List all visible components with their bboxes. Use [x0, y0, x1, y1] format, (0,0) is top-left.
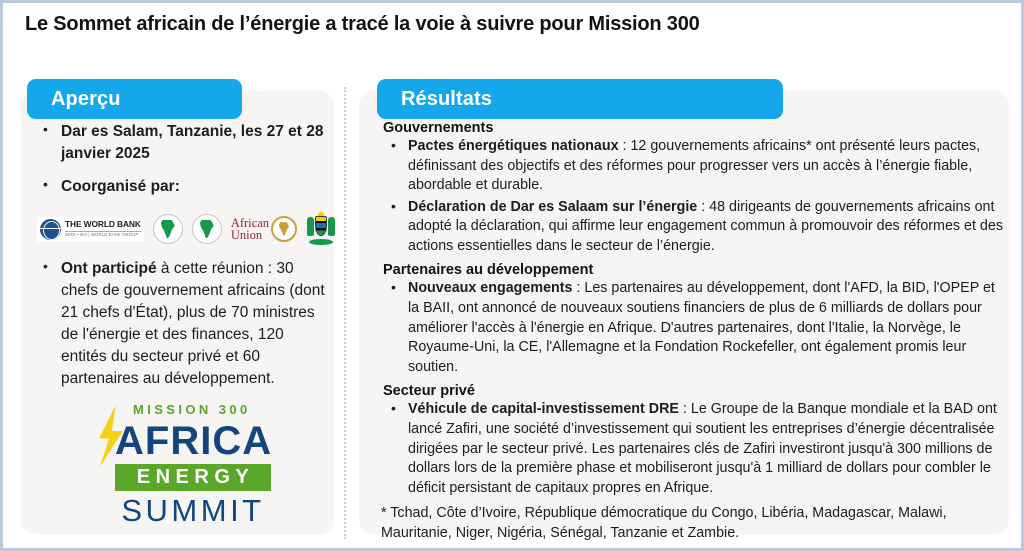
- world-bank-name: THE WORLD BANK: [65, 220, 141, 228]
- africa-continent-icon: [279, 222, 290, 236]
- summit-wordmark: SUMMIT: [115, 495, 271, 526]
- mission300-africa-row: AFRICA: [91, 421, 271, 463]
- new-commitments-label: Nouveaux engagements: [408, 280, 572, 296]
- world-bank-wordmark: THE WORLD BANK IBRD • IDA | WORLD BANK G…: [65, 220, 141, 237]
- africa-continent-icon: [160, 220, 175, 239]
- overview-pill-label: Aperçu: [51, 88, 121, 111]
- development-partners-bullet-list: Nouveaux engagements : Les partenaires a…: [377, 279, 1009, 377]
- afdb-circle-logo-1: [153, 214, 183, 244]
- page-title: Le Sommet africain de l’énergie a tracé …: [25, 12, 985, 37]
- private-sector-bullet-list: Véhicule de capital-investissement DRE :…: [377, 400, 1009, 498]
- world-bank-subtitle: IBRD • IDA | WORLD BANK GROUP: [65, 231, 141, 238]
- national-energy-compacts-label: Pactes énergétiques nationaux: [408, 138, 619, 154]
- coorganizer-logo-strip: THE WORLD BANK IBRD • IDA | WORLD BANK G…: [35, 209, 326, 249]
- mission300-summit-logo: MISSION 300 AFRICA ENERGY SUMMIT: [91, 401, 271, 526]
- coat-of-arms-base-icon: [309, 239, 333, 245]
- list-item-new-commitments: Nouveaux engagements : Les partenaires a…: [377, 279, 1009, 377]
- section-heading-development-partners: Partenaires au développement: [383, 262, 1009, 278]
- world-bank-logo: THE WORLD BANK IBRD • IDA | WORLD BANK G…: [37, 217, 144, 242]
- participants-label: Ont participé: [61, 260, 157, 277]
- location-text: Dar es Salam, Tanzanie, les 27 et 28 jan…: [61, 123, 324, 162]
- globe-icon: [40, 219, 61, 240]
- section-heading-private-sector: Secteur privé: [383, 383, 1009, 399]
- section-heading-governments: Gouvernements: [383, 120, 1009, 136]
- footnote-country-list: * Tchad, Côte d’Ivoire, République démoc…: [381, 504, 1009, 543]
- african-union-line-2: Union: [231, 229, 269, 241]
- results-pill-header: Résultats: [377, 79, 783, 119]
- results-panel-body: Gouvernements Pactes énergétiques nation…: [377, 120, 1009, 540]
- africa-wordmark: AFRICA: [115, 421, 272, 461]
- list-item-participants: Ont participé à cette réunion : 30 chefs…: [35, 258, 326, 390]
- energy-wordmark: ENERGY: [115, 464, 271, 491]
- africa-continent-icon: [199, 220, 214, 239]
- coorganizers-label: Coorganisé par:: [61, 178, 180, 195]
- governments-bullet-list: Pactes énergétiques nationaux : 12 gouve…: [377, 137, 1009, 256]
- overview-bullet-list-top: Dar es Salam, Tanzanie, les 27 et 28 jan…: [35, 121, 326, 198]
- afdb-circle-logo-2: [192, 214, 222, 244]
- list-item-location: Dar es Salam, Tanzanie, les 27 et 28 jan…: [35, 121, 326, 165]
- mission300-wordmark: MISSION 300: [133, 402, 251, 417]
- african-union-wordmark: African Union: [231, 217, 269, 242]
- african-union-logo: African Union: [231, 216, 297, 242]
- dre-equity-vehicle-label: Véhicule de capital-investissement DRE: [408, 401, 679, 417]
- slide-frame: Le Sommet africain de l’énergie a tracé …: [0, 0, 1024, 551]
- panel-divider: [344, 87, 346, 539]
- list-item-coorganizers: Coorganisé par:: [35, 176, 326, 198]
- list-item-dre-equity-vehicle: Véhicule de capital-investissement DRE :…: [377, 400, 1009, 498]
- coat-of-arms-shield-icon: [315, 216, 327, 236]
- dar-es-salaam-declaration-label: Déclaration de Dar es Salaam sur l’énerg…: [408, 199, 697, 215]
- overview-pill-header: Aperçu: [27, 79, 242, 119]
- mission300-top-row: MISSION 300: [91, 401, 271, 421]
- participants-text: à cette réunion : 30 chefs de gouverneme…: [61, 260, 325, 387]
- tanzania-coat-of-arms-logo: [306, 212, 336, 246]
- coat-of-arms-figure-left-icon: [307, 217, 314, 236]
- results-pill-label: Résultats: [401, 88, 492, 111]
- list-item-national-energy-compacts: Pactes énergétiques nationaux : 12 gouve…: [377, 137, 1009, 196]
- overview-bullet-list-bottom: Ont participé à cette réunion : 30 chefs…: [35, 258, 326, 390]
- list-item-dar-es-salaam-declaration: Déclaration de Dar es Salaam sur l’énerg…: [377, 198, 1009, 257]
- african-union-emblem-icon: [271, 216, 297, 242]
- coat-of-arms-figure-right-icon: [328, 217, 335, 236]
